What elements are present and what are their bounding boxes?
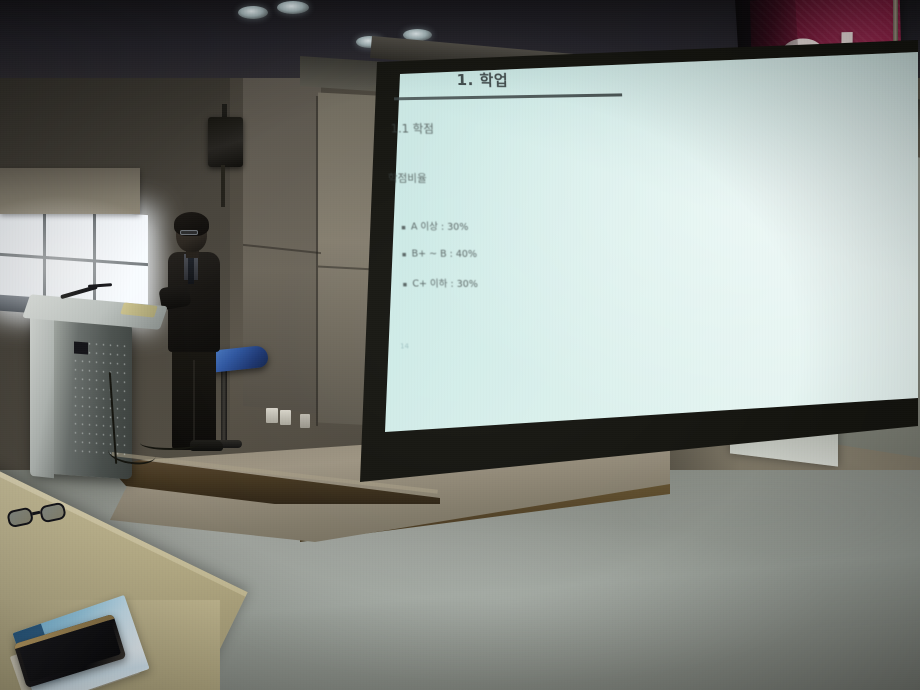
slide-subtitle: 1.1 학점 (391, 120, 435, 136)
lectern-control-panel[interactable] (74, 342, 88, 355)
slide-lead-text: 학점비율 (388, 170, 427, 185)
presenter-tie (188, 258, 194, 284)
wall-outlet[interactable] (266, 408, 278, 423)
slide-bullet: C+ 이하 : 30% (402, 275, 478, 290)
wall-outlet[interactable] (280, 410, 291, 425)
lecture-hall-scene: 영 1. 학업 1.1 학점 학점비율 A 이상 : 30% B+ ~ B : … (0, 0, 920, 690)
stool-post (221, 368, 227, 446)
eyeglasses-bridge (32, 511, 40, 515)
lectern-side (30, 311, 54, 479)
slide-title: 1. 학업 (456, 69, 508, 90)
floor-cable (140, 436, 200, 450)
eyeglasses-lens-left (6, 507, 34, 529)
slide-bullet-list: A 이상 : 30% B+ ~ B : 40% C+ 이하 : 30% (401, 218, 478, 306)
ceiling-downlight (277, 1, 309, 14)
presenter-leg-seam (193, 360, 195, 448)
slide-title-rule (394, 93, 622, 100)
presenter-eyeglasses (180, 230, 198, 235)
slide-content: 1. 학업 1.1 학점 학점비율 A 이상 : 30% B+ ~ B : 40… (340, 18, 649, 380)
window-mullion (93, 214, 96, 312)
roller-blind (0, 168, 140, 214)
eyeglasses-lens-right (39, 502, 67, 524)
slide-number: 14 (400, 342, 409, 350)
ceiling-downlight (238, 6, 268, 19)
slide-bullet: B+ ~ B : 40% (402, 248, 478, 260)
wall-speaker (208, 117, 243, 167)
wall-outlet[interactable] (300, 414, 310, 428)
slide-bullet: A 이상 : 30% (401, 218, 477, 233)
wall-seam (316, 96, 318, 426)
speaker-cable (221, 165, 225, 207)
